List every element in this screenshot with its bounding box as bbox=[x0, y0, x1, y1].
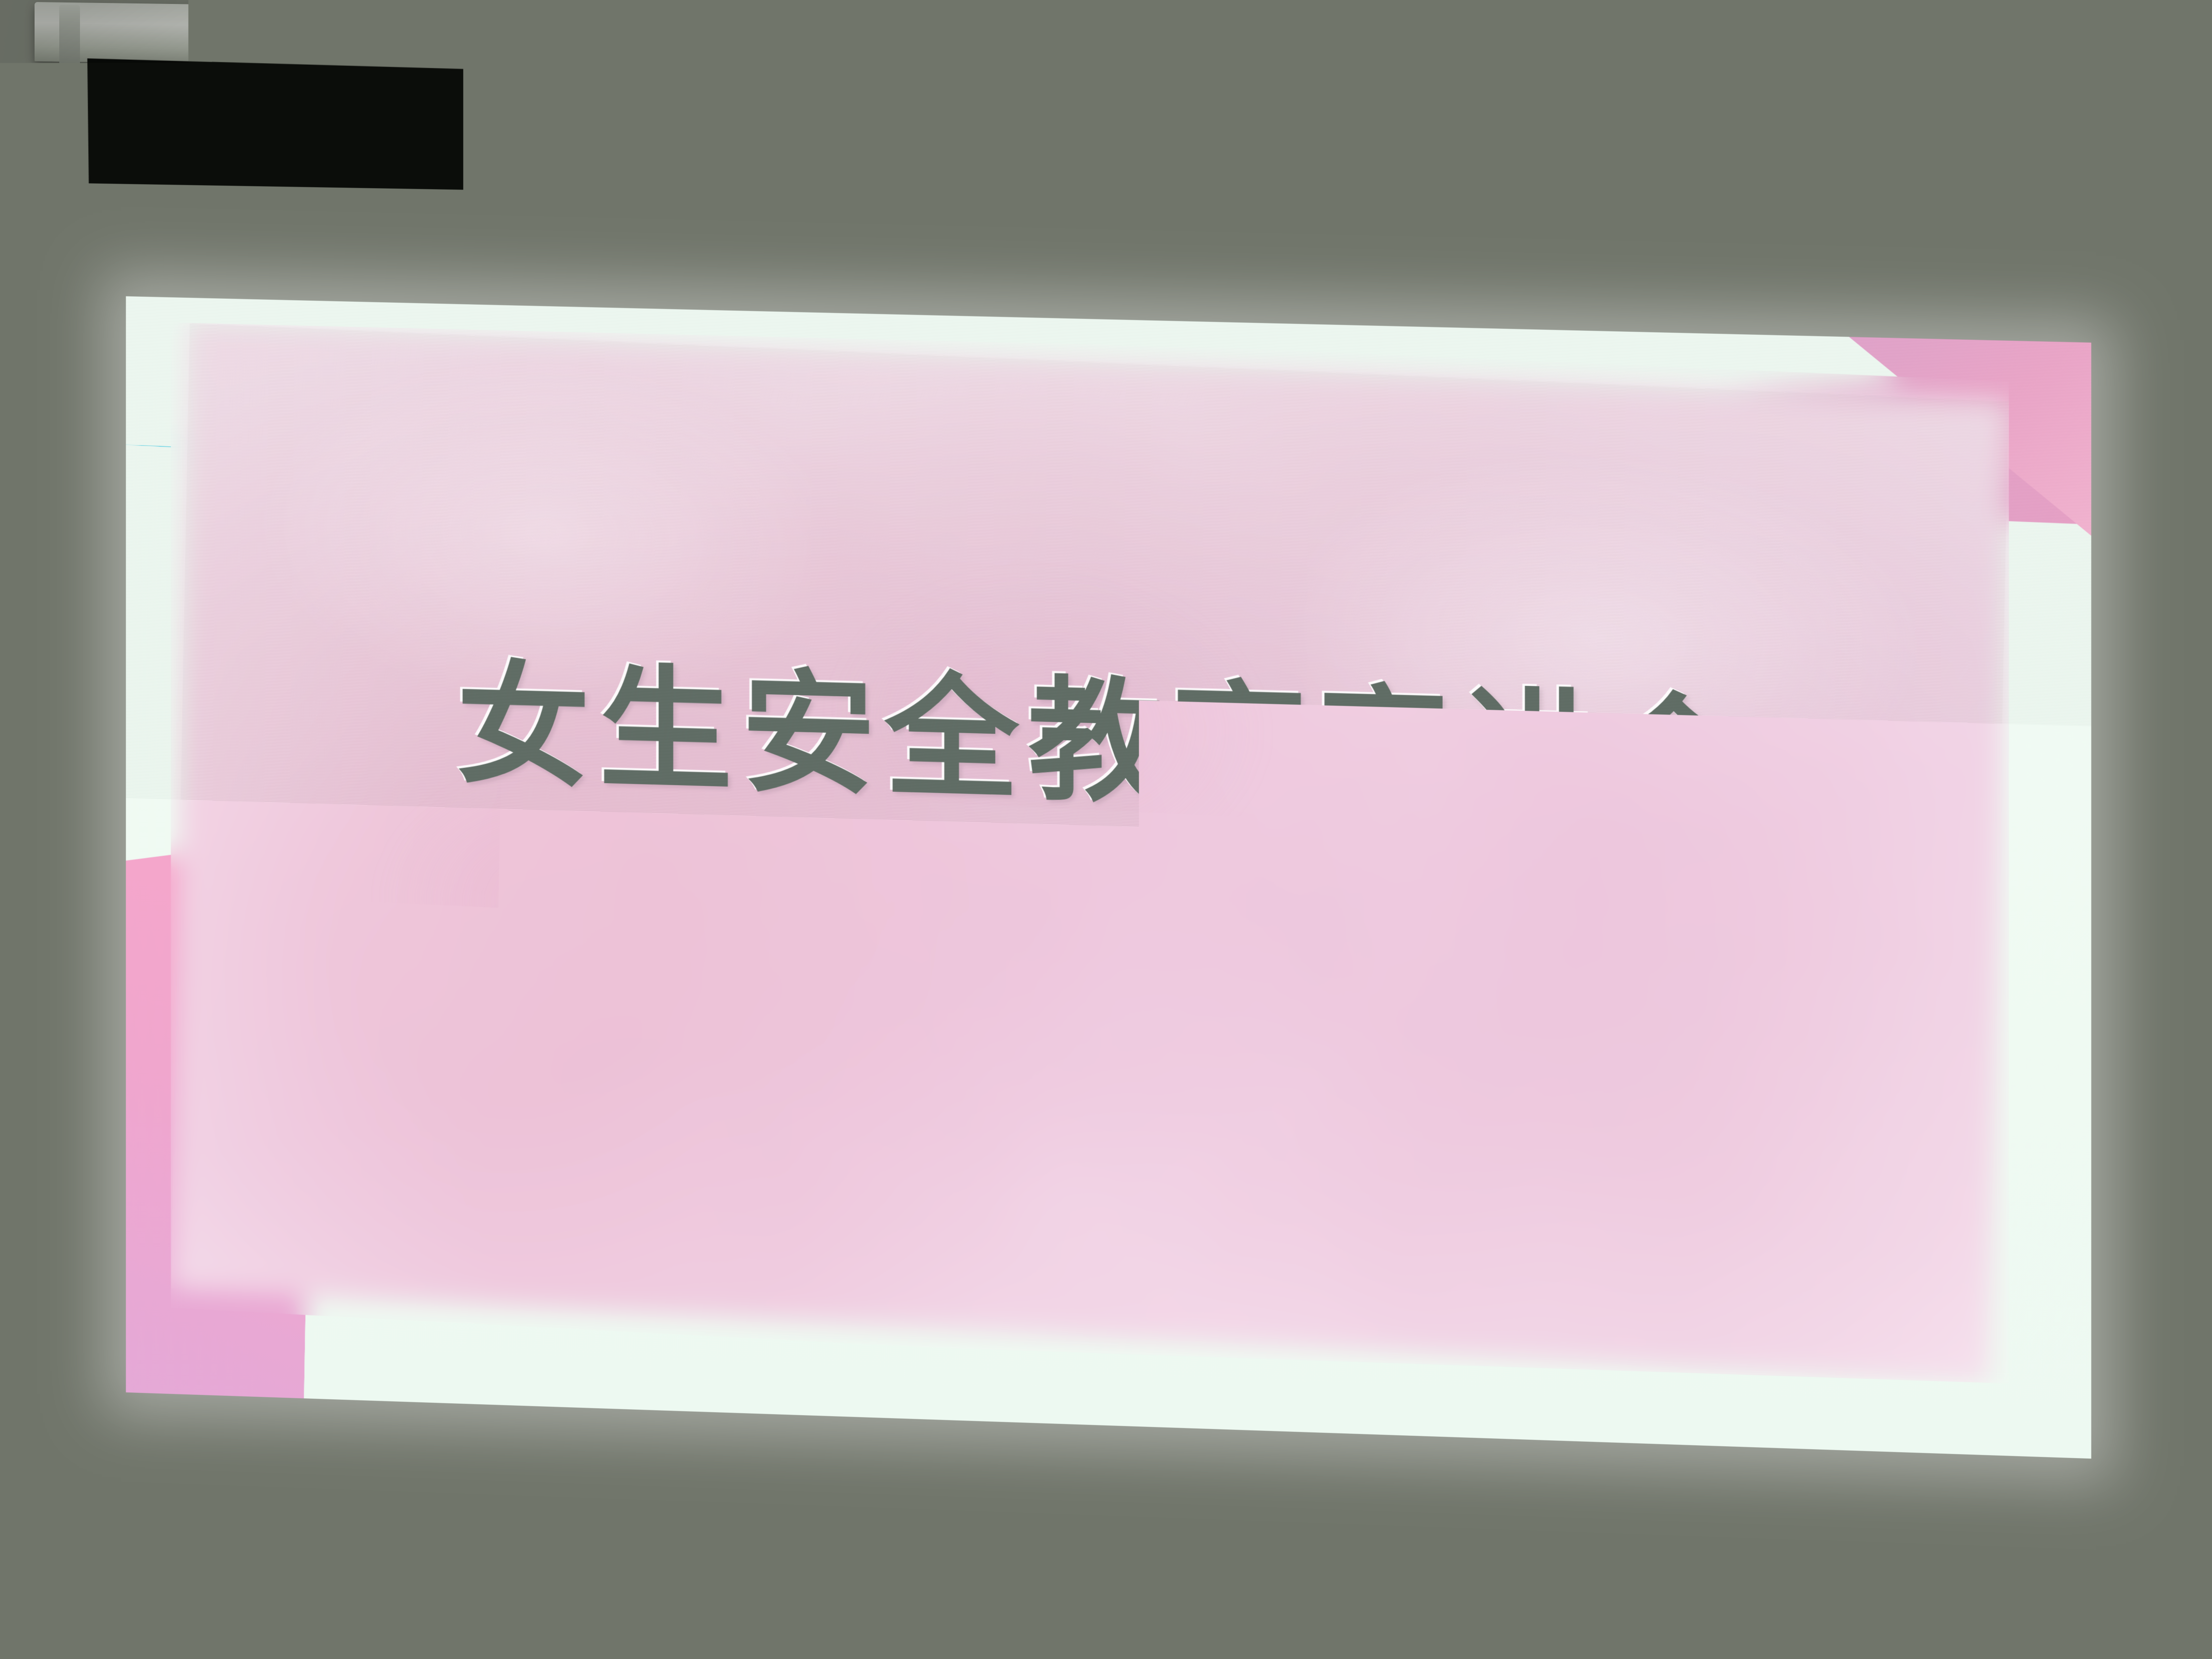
ledge-bracket bbox=[1446, 1574, 1460, 1632]
classroom-photo-scene: 谐 治 善 睦 Mclintton bbox=[0, 0, 2212, 1659]
slide-canvas: 女生安全教育宣讲会 外国语学院女生部 bbox=[126, 296, 2091, 1459]
roller-end-cap bbox=[59, 5, 80, 66]
projected-slide: 女生安全教育宣讲会 外国语学院女生部 bbox=[126, 296, 2091, 1459]
projector-screen-assembly: Mclintton 女生安全教 bbox=[30, 0, 2182, 1595]
screen-brand-logo: Mclintton bbox=[2019, 54, 2133, 78]
